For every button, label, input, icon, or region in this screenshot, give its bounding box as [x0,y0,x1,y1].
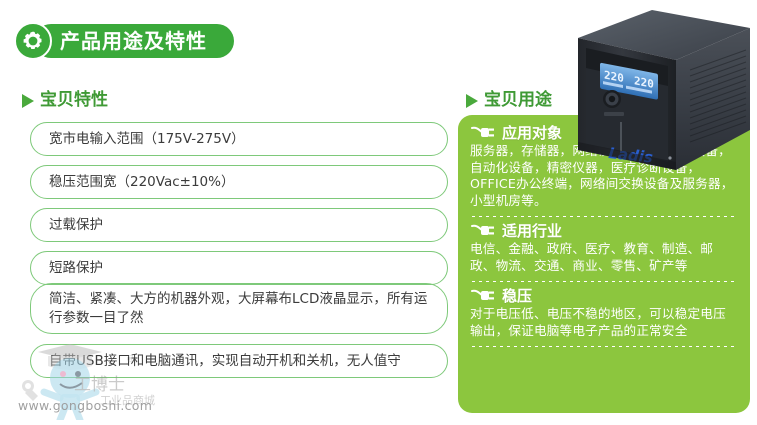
uses-section: 适用行业 电信、金融、政府、医疗、教育、制造、邮政、物流、交通、商业、零售、矿产… [470,223,738,274]
uses-section-title: 稳压 [502,289,532,304]
uses-section-body: 对于电压低、电压不稳的地区，可以稳定电压输出，保证电脑等电子产品的正常安全 [470,306,738,339]
section-heading-uses-label: 宝贝用途 [484,92,552,109]
feature-pill: 短路保护 [30,251,448,285]
uses-section-body: 电信、金融、政府、医疗、教育、制造、邮政、物流、交通、商业、零售、矿产等 [470,241,738,274]
section-heading-features-label: 宝贝特性 [40,92,108,109]
dotted-divider [472,346,736,347]
feature-pill: 稳压范围宽（220Vac±10%） [30,165,448,199]
dotted-divider [472,281,736,282]
uses-section-header: 稳压 [470,288,738,304]
uses-section-header: 适用行业 [470,223,738,239]
uses-section-title: 适用行业 [502,224,562,239]
uses-section: 稳压 对于电压低、电压不稳的地区，可以稳定电压输出，保证电脑等电子产品的正常安全 [470,288,738,339]
section-heading-features: 宝贝特性 [22,92,108,109]
plug-icon [470,223,496,239]
plug-icon [470,125,496,141]
ups-product-image: 220 220 Ladis [556,0,757,184]
svg-text:®: ® [126,355,135,365]
product-feature-infographic: 产品用途及特性 宝贝特性 宽市电输入范围（175V-275V） 稳压范围宽（22… [0,0,757,425]
feature-pill: 简洁、紧凑、大方的机器外观，大屏幕布LCD液晶显示，所有运行参数一目了然 [30,283,448,334]
uses-section-title: 应用对象 [502,126,562,141]
feature-pill: 过载保护 [30,208,448,242]
plug-icon [470,288,496,304]
triangle-right-icon [466,94,478,108]
feature-pill-label: 短路保护 [49,259,103,278]
page-title-banner: 产品用途及特性 [34,24,234,58]
feature-pill-label: 稳压范围宽（220Vac±10%） [49,173,234,192]
watermark-brand: 工博士 [74,375,125,395]
page-title: 产品用途及特性 [60,31,207,51]
watermark-url: www.gongboshi.com [18,398,152,413]
gear-icon [14,22,52,60]
feature-pill-label: 宽市电输入范围（175V-275V） [49,130,245,149]
dotted-divider [472,216,736,217]
feature-pill-label: 简洁、紧凑、大方的机器外观，大屏幕布LCD液晶显示，所有运行参数一目了然 [49,290,429,328]
section-heading-uses: 宝贝用途 [466,92,552,109]
triangle-right-icon [22,94,34,108]
feature-pill-label: 过载保护 [49,216,103,235]
feature-pill: 宽市电输入范围（175V-275V） [30,122,448,156]
